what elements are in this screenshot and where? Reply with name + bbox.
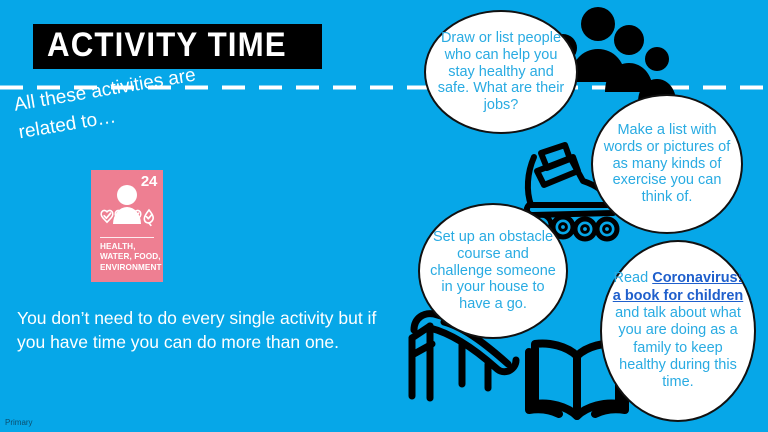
activity-bubble-helpers[interactable]: Draw or list people who can help you sta… [424,10,578,134]
activity-bubble-read-book[interactable]: Read Coronavirus: a book for children an… [600,240,756,422]
activity-bubble-helpers-text: Draw or list people who can help you sta… [426,30,576,114]
instruction-paragraph: You don’t need to do every single activi… [17,306,382,354]
activity-bubble-exercise-list-text: Make a list with words or pictures of as… [593,122,741,206]
sdg-topic-card: 24 HEALTH, WAT [91,170,163,282]
read-label: Read [614,270,653,286]
footer-label: Primary [5,418,33,427]
page-title: ACTIVITY TIME [33,24,322,69]
person-with-hearts-and-droplet-icon [91,184,163,236]
activity-bubble-read-book-text: Read Coronavirus: a book for children an… [602,270,754,392]
read-book-trailing-text: and talk about what you are doing as a f… [615,305,741,391]
activity-bubble-obstacle-course-text: Set up an obstacle course and challenge … [420,229,566,313]
sdg-card-divider [100,237,154,238]
activity-bubble-exercise-list[interactable]: Make a list with words or pictures of as… [591,94,743,234]
page-title-text: ACTIVITY TIME [47,28,287,62]
activity-bubble-obstacle-course[interactable]: Set up an obstacle course and challenge … [418,203,568,339]
sdg-card-label: HEALTH, WATER, FOOD, ENVIRONMENT [100,242,162,273]
slide-canvas: ACTIVITY TIME All these activities are r… [0,0,768,432]
